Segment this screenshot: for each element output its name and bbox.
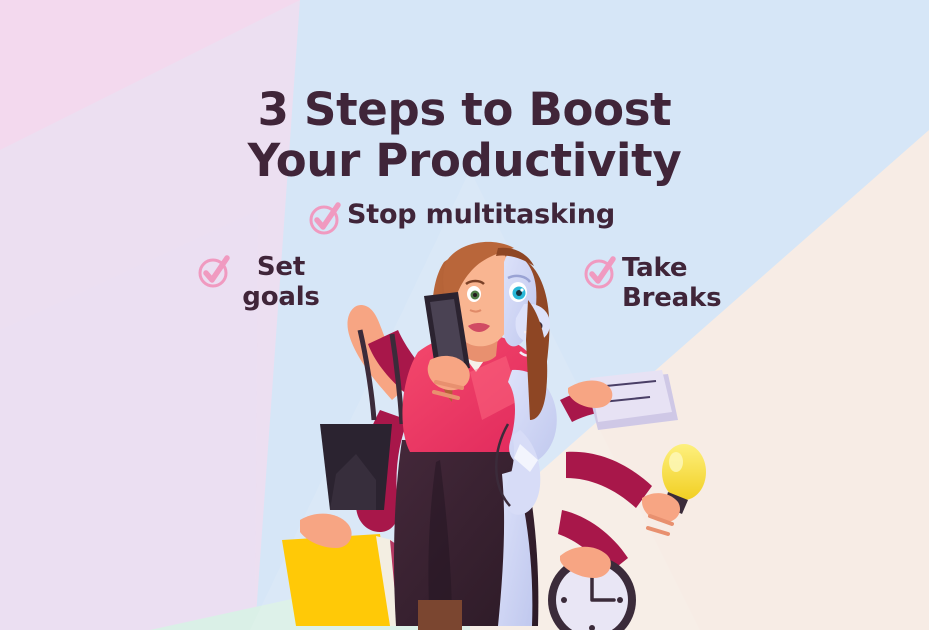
check-circle-icon [307, 201, 343, 237]
page-title: 3 Steps to Boost Your Productivity [0, 85, 929, 186]
tip-stop-multitasking-text: Stop multitasking [347, 200, 615, 231]
tip-line-2: Breaks [622, 284, 721, 314]
poster-canvas: 3 Steps to Boost Your Productivity Stop … [0, 0, 929, 630]
tip-take-breaks: Take Breaks [582, 254, 721, 313]
tip-line-1: Take [622, 254, 721, 284]
check-circle-icon [582, 255, 618, 291]
tip-line-2: goals [236, 283, 326, 313]
tip-line-1: Stop multitasking [347, 200, 615, 231]
check-circle-icon [196, 254, 232, 290]
tip-set-goals-text: Set goals [236, 253, 326, 312]
tip-set-goals: Set goals [196, 253, 326, 312]
tip-line-1: Set [236, 253, 326, 283]
tip-take-breaks-text: Take Breaks [622, 254, 721, 313]
page-title-line-1: 3 Steps to Boost [0, 85, 929, 135]
tip-stop-multitasking: Stop multitasking [307, 200, 615, 237]
page-title-line-2: Your Productivity [0, 136, 929, 186]
